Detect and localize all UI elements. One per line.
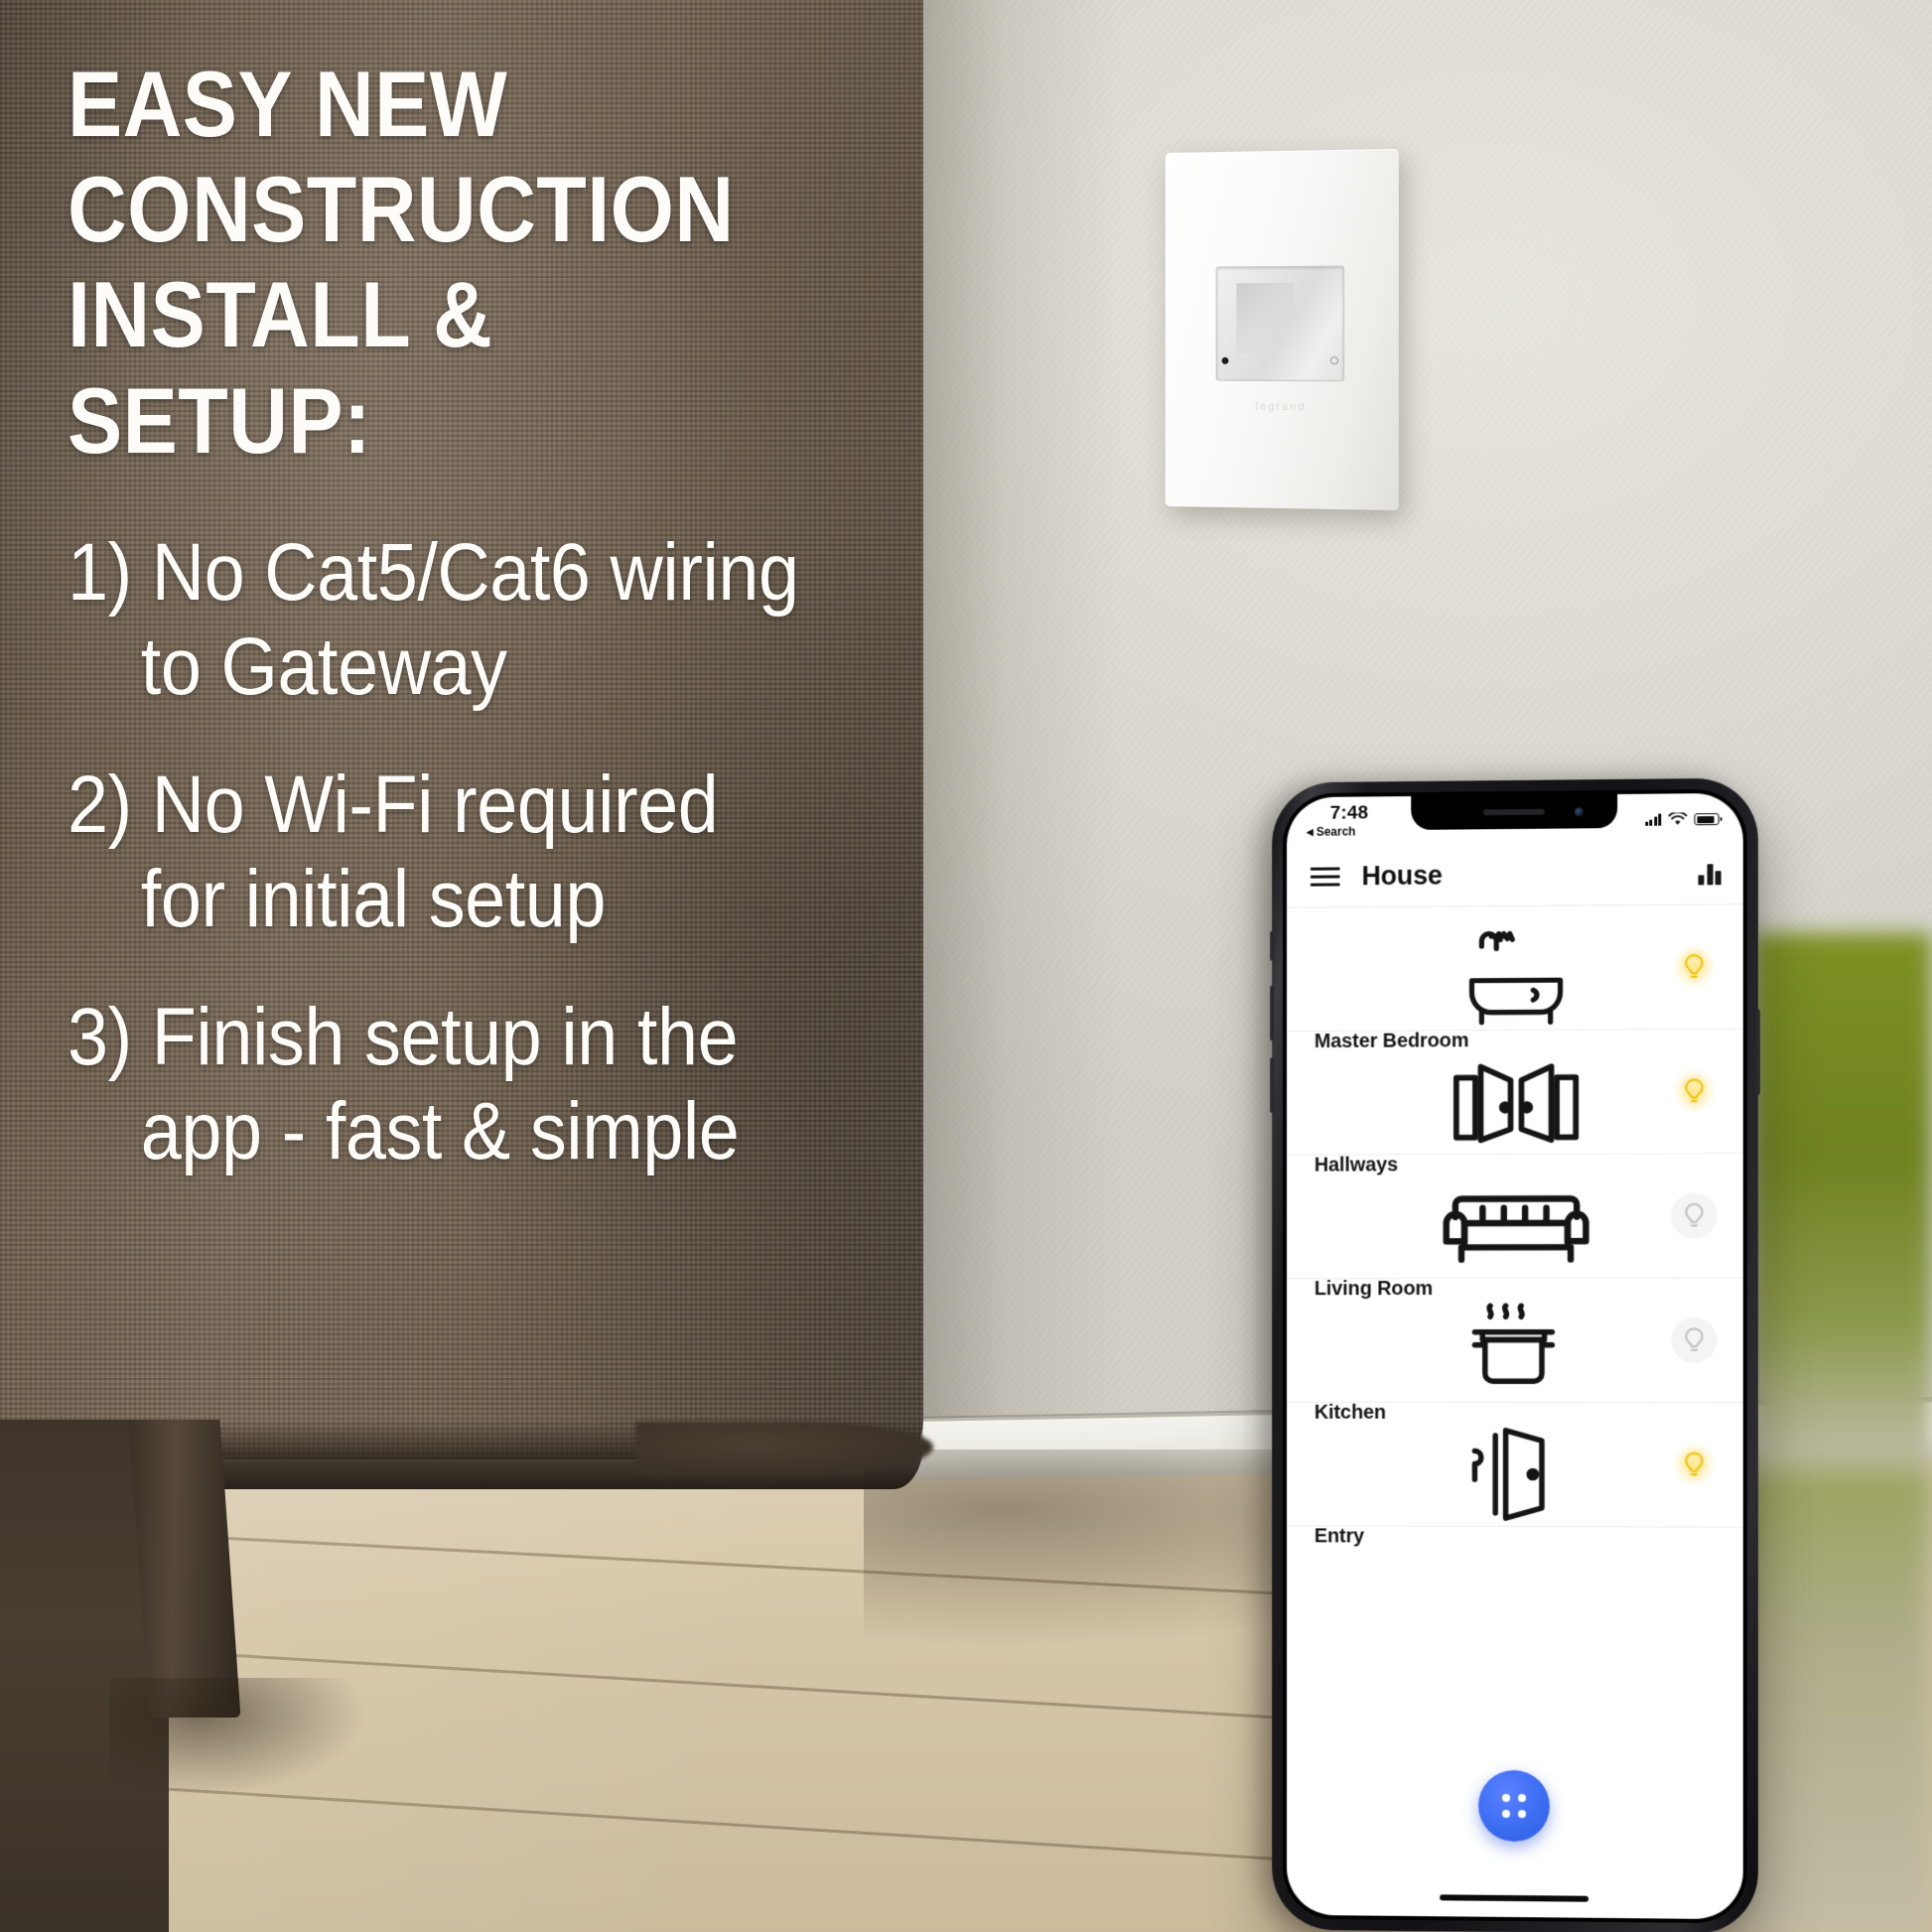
list-item[interactable]: Entry	[1287, 1403, 1743, 1528]
list-item[interactable]: Master Bedroom	[1287, 904, 1743, 1032]
furniture-leg-shadow	[109, 1678, 367, 1797]
headline-line-1: EASY NEW	[68, 52, 792, 157]
cooking-pot-icon	[1314, 1299, 1720, 1402]
sofa-icon	[1314, 1173, 1720, 1278]
switch-paddle[interactable]	[1216, 266, 1344, 382]
list-item[interactable]: Hallways	[1287, 1030, 1743, 1156]
cellular-signal-icon	[1645, 814, 1662, 826]
page-title: EASY NEW CONSTRUCTION INSTALL & SETUP:	[68, 52, 792, 474]
light-toggle-icon[interactable]	[1671, 1317, 1717, 1363]
home-indicator-bar[interactable]	[1440, 1894, 1588, 1901]
mute-switch[interactable]	[1270, 931, 1274, 961]
hamburger-menu-icon[interactable]	[1311, 867, 1340, 887]
step-line-2: for initial setup	[68, 852, 809, 946]
headline-line-3: INSTALL & SETUP:	[68, 262, 792, 473]
room-list: Master Bedroom	[1287, 904, 1743, 1749]
app-title: House	[1362, 861, 1443, 893]
promo-scene: EASY NEW CONSTRUCTION INSTALL & SETUP: 1…	[0, 0, 1932, 1932]
phone-bezel: 7:48 ◀ Search	[1283, 789, 1747, 1924]
status-bar-right	[1645, 812, 1720, 827]
open-door-icon	[1314, 1423, 1720, 1527]
phone-screen: 7:48 ◀ Search	[1287, 793, 1743, 1920]
list-item: 3) Finish setup in the app - fast & simp…	[68, 990, 809, 1178]
grid-apps-icon	[1502, 1794, 1526, 1818]
back-caret-icon: ◀	[1307, 827, 1313, 836]
back-to-app-link[interactable]: ◀ Search	[1307, 825, 1356, 837]
bottom-action-area	[1287, 1746, 1743, 1919]
wifi-icon	[1668, 812, 1687, 826]
status-bar: 7:48 ◀ Search	[1287, 793, 1743, 847]
light-toggle-icon[interactable]	[1671, 1442, 1717, 1487]
bathtub-icon	[1314, 924, 1720, 1031]
paddle-reflection	[1237, 283, 1295, 353]
light-toggle-icon[interactable]	[1671, 1068, 1717, 1114]
doors-icon	[1314, 1049, 1720, 1155]
step-line-1: 3) Finish setup in the	[68, 992, 738, 1082]
app-bar: House	[1287, 843, 1743, 908]
room-name: Entry	[1314, 1525, 1364, 1547]
back-to-app-label: Search	[1316, 825, 1356, 837]
brand-mark: legrand	[1166, 400, 1399, 414]
light-toggle-icon[interactable]	[1671, 1192, 1717, 1238]
list-item: 1) No Cat5/Cat6 wiring to Gateway	[68, 525, 809, 714]
status-time: 7:48	[1330, 803, 1369, 822]
promo-copy: EASY NEW CONSTRUCTION INSTALL & SETUP: 1…	[68, 52, 892, 1223]
step-line-1: 1) No Cat5/Cat6 wiring	[68, 527, 799, 618]
paddle-ring-indicator-icon	[1330, 356, 1338, 364]
list-item[interactable]: Living Room	[1287, 1154, 1743, 1279]
light-toggle-icon[interactable]	[1671, 944, 1717, 990]
step-line-2: app - fast & simple	[68, 1084, 809, 1178]
paddle-status-dot-icon	[1222, 357, 1229, 364]
list-item[interactable]: Kitchen	[1287, 1279, 1743, 1404]
activity-chart-icon[interactable]	[1698, 863, 1721, 885]
list-item: 2) No Wi-Fi required for initial setup	[68, 758, 809, 946]
wall-switch-plate[interactable]: legrand	[1166, 149, 1399, 510]
volume-down-button[interactable]	[1270, 1057, 1274, 1113]
status-bar-left: 7:48 ◀ Search	[1307, 803, 1368, 837]
add-scene-button[interactable]	[1478, 1770, 1550, 1843]
steps-list: 1) No Cat5/Cat6 wiring to Gateway 2) No …	[68, 525, 892, 1179]
power-button[interactable]	[1756, 1009, 1760, 1094]
volume-up-button[interactable]	[1270, 986, 1274, 1041]
smartphone: 7:48 ◀ Search	[1272, 778, 1758, 1932]
headline-line-2: CONSTRUCTION	[68, 157, 792, 262]
step-line-1: 2) No Wi-Fi required	[68, 759, 718, 850]
battery-icon	[1694, 813, 1719, 825]
step-line-2: to Gateway	[68, 620, 809, 714]
